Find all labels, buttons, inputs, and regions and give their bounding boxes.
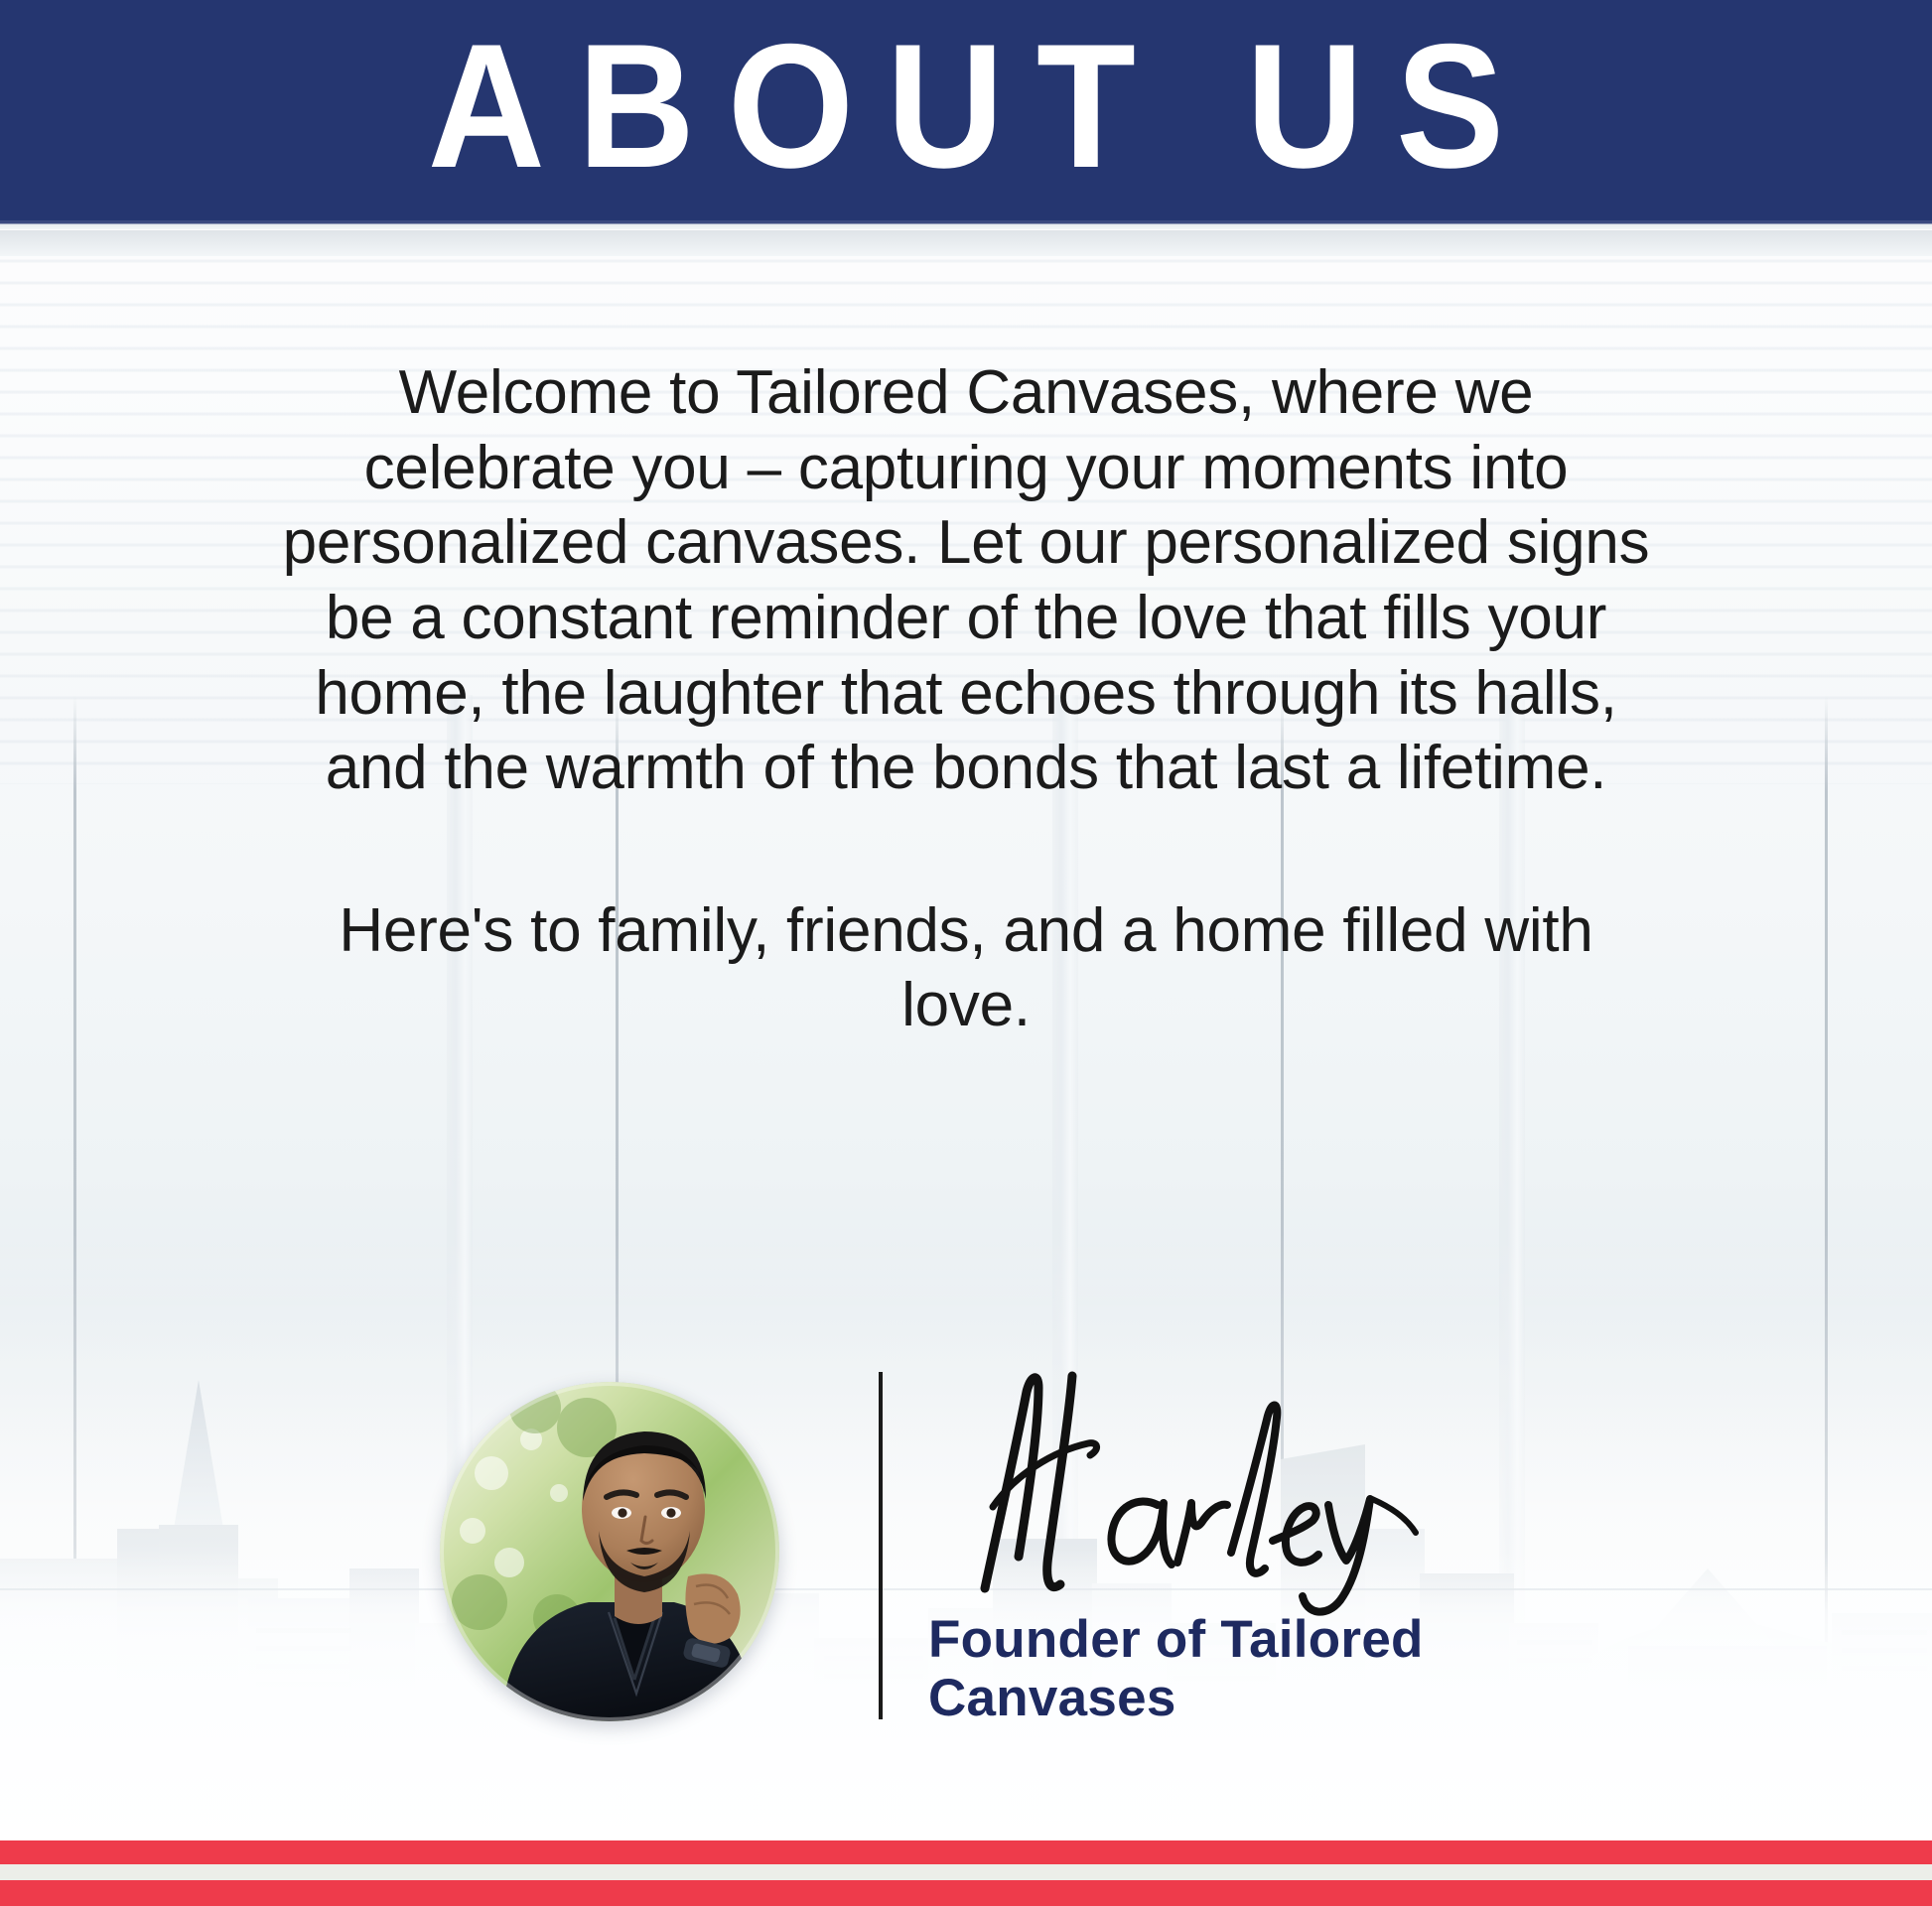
about-us-copy: Welcome to Tailored Canvases, where we c…: [271, 355, 1661, 1043]
founder-role: Founder of Tailored Canvases: [928, 1611, 1623, 1727]
founder-role-line-1: Founder of Tailored: [928, 1611, 1623, 1669]
header-underline: [0, 220, 1932, 229]
founder-role-line-2: Canvases: [928, 1670, 1623, 1727]
founder-signature: [923, 1358, 1479, 1606]
copy-paragraph-2: Here's to family, friends, and a home fi…: [271, 893, 1661, 1043]
signature-divider: [879, 1372, 883, 1719]
avatar: [440, 1382, 779, 1721]
page-title: ABOUT US: [395, 18, 1537, 195]
copy-paragraph-1: Welcome to Tailored Canvases, where we c…: [271, 355, 1661, 806]
footer-stripe-gap: [0, 1864, 1932, 1880]
founder-signature-block: Founder of Tailored Canvases: [0, 1340, 1932, 1757]
paragraph-spacer: [271, 806, 1661, 893]
about-us-poster: ABOUT US Welcome to Tailored Canvases, w…: [0, 0, 1932, 1906]
header-band: ABOUT US: [0, 0, 1932, 220]
footer-stripe-bottom: [0, 1880, 1932, 1906]
footer-stripe-top: [0, 1840, 1932, 1864]
window-blinds-header: [0, 230, 1932, 256]
